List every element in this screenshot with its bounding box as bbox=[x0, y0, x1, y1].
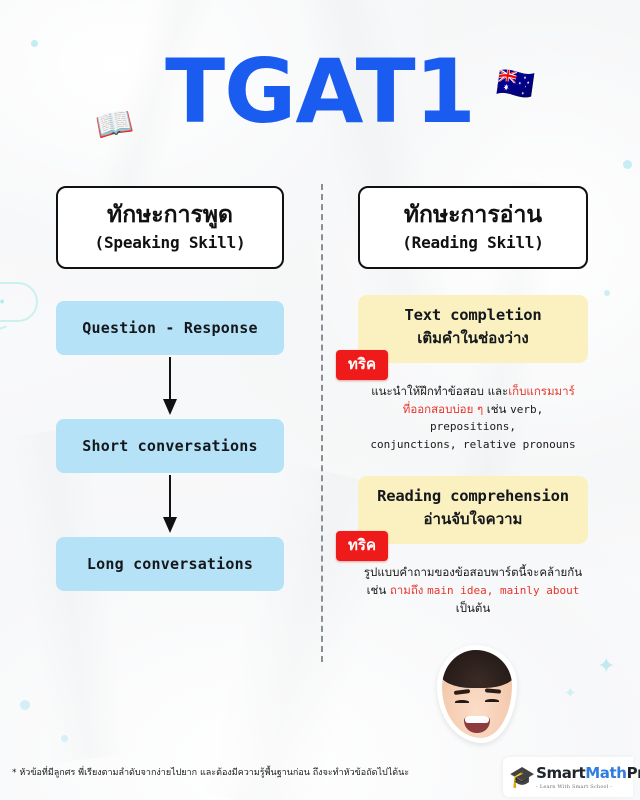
tip-plain: รูปแบบคำถามของข้อสอบพาร์ตนี้จะคล้ายกัน bbox=[364, 565, 582, 579]
smiling-mouth bbox=[464, 716, 490, 733]
tip-plain: เช่น bbox=[367, 583, 390, 597]
tip-plain: เป็นต้น bbox=[456, 601, 490, 615]
tip-line: ที่ออกสอบบ่อย ๆ เช่น verb, prepositions, bbox=[358, 401, 588, 437]
smartmathpro-logo: 🎓 SmartMathPro - Learn With Smart School… bbox=[503, 757, 633, 797]
logo-word-math: Math bbox=[585, 764, 626, 782]
flow-step-long-conversations[interactable]: Long conversations bbox=[56, 537, 284, 591]
page-title: TGAT1 bbox=[0, 34, 640, 150]
tip-line: conjunctions, relative pronouns bbox=[358, 436, 588, 454]
tip-line: เช่น ถามถึง main idea, mainly about เป็น… bbox=[358, 582, 588, 618]
reading-skill-heading-th: ทักษะการอ่าน bbox=[368, 201, 578, 230]
flow-step-question-response[interactable]: Question - Response bbox=[56, 301, 284, 355]
logo-word-smart: Smart bbox=[536, 764, 585, 782]
reading-card-text-completion[interactable]: Text completion เติมคำในช่องว่าง bbox=[358, 295, 588, 363]
teeth bbox=[465, 716, 489, 723]
reading-skill-heading: ทักษะการอ่าน (Reading Skill) bbox=[358, 186, 588, 269]
sparkle-icon: ✦ bbox=[597, 655, 615, 677]
tip-highlight: ที่ออกสอบบ่อย ๆ bbox=[403, 402, 483, 416]
card-title-en: Text completion bbox=[366, 306, 580, 324]
column-divider bbox=[321, 184, 323, 662]
flow-arrow bbox=[56, 355, 284, 419]
flow-step-short-conversations[interactable]: Short conversations bbox=[56, 419, 284, 473]
presenter-face-sticker bbox=[437, 645, 517, 743]
reading-skill-column: ทักษะการอ่าน (Reading Skill) Text comple… bbox=[358, 186, 588, 617]
speaking-skill-heading: ทักษะการพูด (Speaking Skill) bbox=[56, 186, 284, 269]
reading-tip-text-completion: แนะนำให้ฝึกทำข้อสอบ และเก็บแกรมมาร์ ที่อ… bbox=[358, 383, 588, 454]
tip-highlight: ถามถึง bbox=[390, 583, 427, 597]
card-title-en: Reading comprehension bbox=[366, 487, 580, 505]
logo-word-pro: Pro bbox=[627, 764, 640, 782]
tip-line: รูปแบบคำถามของข้อสอบพาร์ตนี้จะคล้ายกัน bbox=[358, 564, 588, 582]
decor-dot bbox=[20, 700, 30, 710]
eyebrow-left bbox=[454, 689, 470, 695]
australia-flag-emoji: 🇦🇺 bbox=[495, 68, 536, 103]
decor-dot bbox=[61, 735, 68, 742]
reading-card-reading-comprehension[interactable]: Reading comprehension อ่านจับใจความ bbox=[358, 476, 588, 544]
tip-english: conjunctions, relative pronouns bbox=[370, 438, 575, 451]
logo-tagline: - Learn With Smart School - bbox=[536, 784, 640, 790]
decor-dot bbox=[604, 290, 610, 296]
flow-arrow bbox=[56, 473, 284, 537]
arrow-down-icon bbox=[161, 357, 179, 417]
speaking-skill-heading-th: ทักษะการพูด bbox=[66, 201, 274, 230]
graduation-cap-icon: 🎓 bbox=[509, 767, 535, 788]
sparkle-icon: ✦ bbox=[564, 686, 577, 701]
eye-left bbox=[455, 700, 469, 704]
decor-dot bbox=[623, 160, 632, 169]
hair bbox=[442, 650, 512, 688]
trick-badge: ทริค bbox=[336, 531, 388, 561]
header: TGAT1 📖 🇦🇺 bbox=[0, 34, 640, 150]
card-title-th: เติมคำในช่องว่าง bbox=[366, 326, 580, 350]
speaking-skill-column: ทักษะการพูด (Speaking Skill) Question - … bbox=[56, 186, 284, 591]
speaking-skill-heading-en: (Speaking Skill) bbox=[66, 233, 274, 252]
infographic-page: ••• ✦ ✦ TGAT1 📖 🇦🇺 ทักษะการพูด (Speaking… bbox=[0, 0, 640, 800]
reading-tip-comprehension: รูปแบบคำถามของข้อสอบพาร์ตนี้จะคล้ายกัน เ… bbox=[358, 564, 588, 617]
reading-skill-heading-en: (Reading Skill) bbox=[368, 233, 578, 252]
tip-highlight-english: main idea, mainly about bbox=[427, 584, 579, 597]
eyebrow-right bbox=[485, 688, 501, 693]
trick-badge: ทริค bbox=[336, 350, 388, 380]
arrow-down-icon bbox=[161, 475, 179, 535]
tip-plain: แนะนำให้ฝึกทำข้อสอบ และ bbox=[371, 384, 508, 398]
eye-right bbox=[485, 699, 499, 703]
card-title-th: อ่านจับใจความ bbox=[366, 507, 580, 531]
tip-line: แนะนำให้ฝึกทำข้อสอบ และเก็บแกรมมาร์ bbox=[358, 383, 588, 401]
speech-bubble-decor-icon: ••• bbox=[0, 282, 38, 322]
footnote: * หัวข้อที่มีลูกศร พี่เรียงตามลำดับจากง่… bbox=[12, 765, 409, 779]
tip-highlight: เก็บแกรมมาร์ bbox=[508, 384, 575, 398]
open-book-emoji: 📖 bbox=[93, 106, 136, 143]
speech-bubble-dots: ••• bbox=[0, 294, 7, 311]
tip-plain: เช่น bbox=[483, 402, 510, 416]
